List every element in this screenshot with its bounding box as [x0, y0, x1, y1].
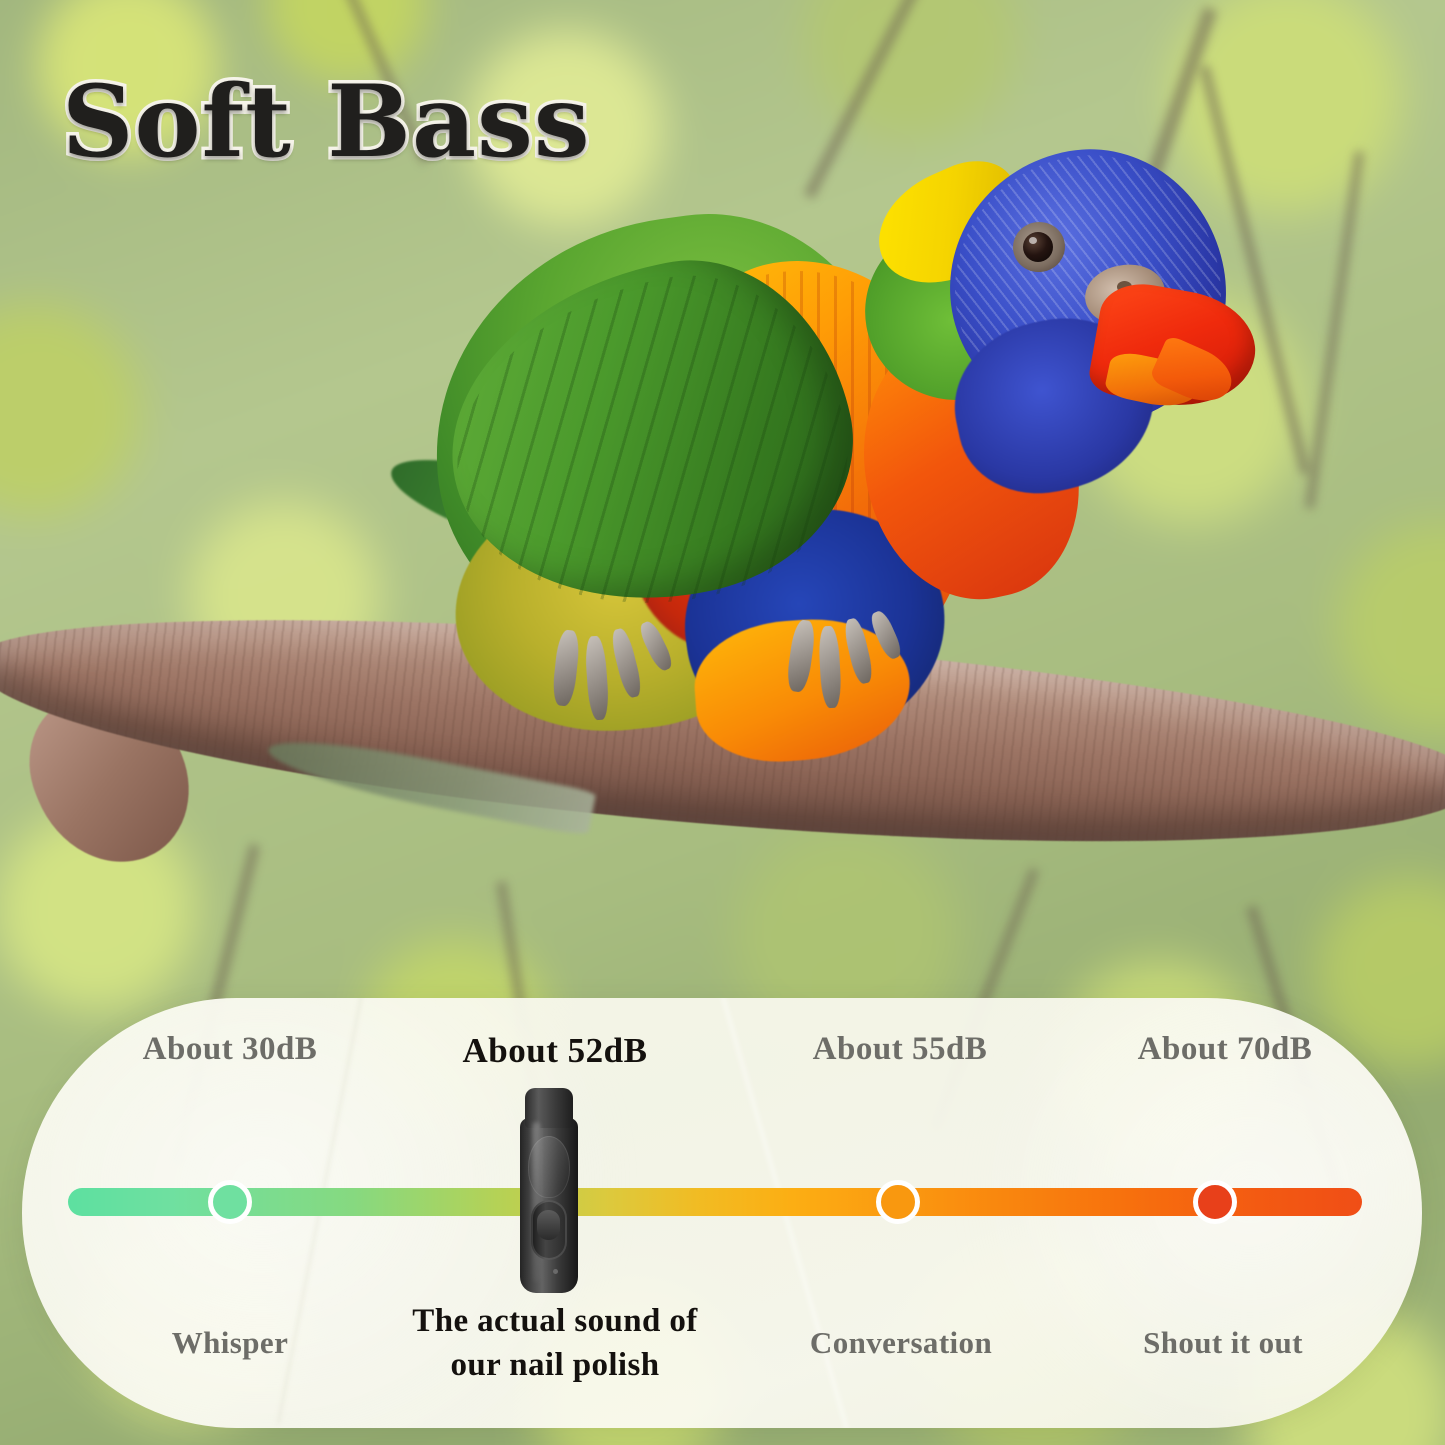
- device-button-inner[interactable]: [537, 1210, 560, 1240]
- device-cap: [525, 1088, 573, 1128]
- gradient-track: [68, 1188, 1362, 1216]
- label-55db: About 55dB: [780, 1031, 1020, 1068]
- parrot-eye-glint: [1029, 237, 1037, 244]
- label-52db: About 52dB: [430, 1031, 680, 1071]
- decibel-gradient-bar: [68, 1188, 1362, 1216]
- device-indicator: [553, 1269, 558, 1274]
- label-shout-it-out: Shout it out: [1098, 1325, 1348, 1361]
- marker-dot-55db[interactable]: [876, 1180, 920, 1224]
- label-actual-sound: The actual sound of our nail polish: [400, 1300, 710, 1387]
- nail-polisher-icon: [516, 1088, 582, 1293]
- label-conversation: Conversation: [776, 1325, 1026, 1361]
- label-30db: About 30dB: [110, 1031, 350, 1068]
- promo-image: Soft Bass About 30dB About 52dB About 55…: [0, 0, 1445, 1445]
- label-70db: About 70dB: [1100, 1031, 1350, 1068]
- marker-dot-70db[interactable]: [1193, 1180, 1237, 1224]
- marker-dot-30db[interactable]: [208, 1180, 252, 1224]
- page-title: Soft Bass: [62, 64, 591, 180]
- label-whisper: Whisper: [110, 1325, 350, 1361]
- parrot-eye: [1023, 232, 1053, 262]
- parrot-illustration: [395, 150, 1185, 710]
